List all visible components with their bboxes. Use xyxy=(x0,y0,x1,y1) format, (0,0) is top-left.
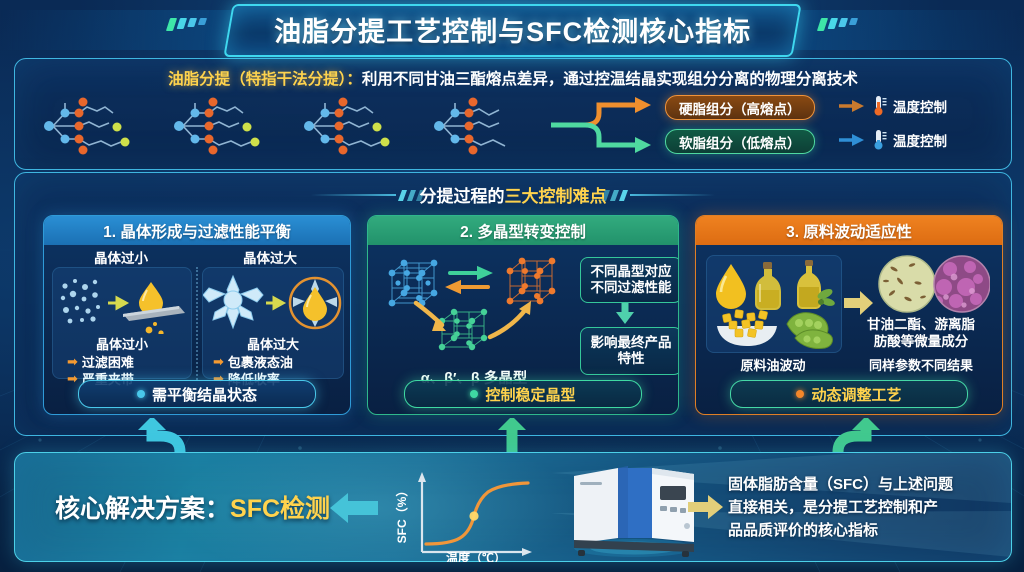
challenge-card-1[interactable]: 1. 晶体形成与过滤性能平衡 晶体过小 晶体过大 xyxy=(43,215,351,415)
definition-text: 利用不同甘油三酯熔点差异，通过控温结晶实现组分分离的物理分离技术 xyxy=(362,71,858,88)
microscope-samples-icon xyxy=(878,253,990,315)
conclusion-line-1: 固体脂肪含量（SFC）与上述问题 xyxy=(728,474,1000,497)
challenge-card-2[interactable]: 2. 多晶型转变控制 xyxy=(367,215,679,415)
title-deco-left-icon xyxy=(166,18,207,31)
beta-lattice-icon xyxy=(510,261,552,301)
section-title: 分提过程的三大控制难点 xyxy=(15,182,1011,207)
challenge-card-1-badge-label: 需平衡结晶状态 xyxy=(152,384,257,405)
solution-title-highlight: SFC检测 xyxy=(230,495,330,523)
bullet-dot-icon xyxy=(137,390,145,398)
definition-heading: 油脂分提（特指干法分提）：利用不同甘油三酯熔点差异，通过控温结晶实现组分分离的物… xyxy=(15,67,1011,89)
arrow-right-icon: ➡ xyxy=(67,355,78,368)
challenge-card-3-header: 3. 原料波动适应性 xyxy=(696,216,1002,245)
small-crystals-filter-icon xyxy=(53,272,191,334)
polymorph-lattice-diagram xyxy=(376,249,576,369)
arrow-down-icon xyxy=(614,303,636,325)
polymorph-chip-1-line2: 不同过滤性能 xyxy=(591,280,672,296)
conclusion-line-2: 直接相关，是分提工艺控制和产 xyxy=(728,497,1000,520)
challenge-card-3-badge-label: 动态调整工艺 xyxy=(811,384,901,405)
large-crystal-caption: 晶体过大 xyxy=(203,334,343,353)
hard-fraction-label: 硬脂组分（高熔点） xyxy=(679,98,801,118)
large-crystal-label: 晶体过大 xyxy=(196,247,344,267)
page-title-text: 油脂分提工艺控制与SFC检测核心指标 xyxy=(274,10,751,49)
title-deco-right-icon xyxy=(817,18,858,31)
y-axis-arrowhead xyxy=(418,472,426,482)
polymorph-chip-2-line1: 影响最终产品 xyxy=(591,335,672,351)
feedstock-panel xyxy=(706,255,842,353)
thermometer-cold-icon xyxy=(873,129,888,150)
challenges-panel: 分提过程的三大控制难点 1. 晶体形成与过滤性能平衡 晶体过小 晶体过大 xyxy=(14,172,1012,436)
arrow-right-icon: ➡ xyxy=(213,355,224,368)
edible-oils-feedstock-icon xyxy=(707,256,841,352)
challenge-card-2-body: α、β′、β 多晶型 不同晶型对应 不同过滤性能 影响最终产品 特性 xyxy=(368,245,678,414)
small-crystal-caption: 晶体过小 xyxy=(53,334,191,353)
minor-components-text: 甘油二酯、游离脂 肪酸等微量成分 xyxy=(848,317,994,351)
x-axis-arrowhead xyxy=(522,548,532,556)
sfc-curve-chart: SFC（%） 温度（℃） xyxy=(388,466,538,562)
challenge-card-1-body: 晶体过小 晶体过大 xyxy=(44,245,350,414)
triglyceride-molecule-icon xyxy=(169,97,279,155)
chart-xlabel: 温度（℃） xyxy=(446,550,506,562)
page-title: 油脂分提工艺控制与SFC检测核心指标 xyxy=(223,4,801,57)
minor-components-line2: 肪酸等微量成分 xyxy=(848,334,994,351)
polymorph-chip-2[interactable]: 影响最终产品 特性 xyxy=(580,327,679,375)
sfc-curve-marker xyxy=(469,511,478,520)
small-crystal-panel: 晶体过小 ➡过滤困难 ➡严重夹带 xyxy=(52,267,192,379)
section-title-highlight: 三大控制难点 xyxy=(505,187,607,206)
conclusion-line-3: 品品质评价的核心指标 xyxy=(728,520,1000,543)
challenge-card-2-badge-label: 控制稳定晶型 xyxy=(485,384,575,405)
challenge-card-2-badge[interactable]: 控制稳定晶型 xyxy=(404,380,642,408)
hard-fraction-pill[interactable]: 硬脂组分（高熔点） xyxy=(665,95,815,120)
result-variation-caption: 同样参数不同结果 xyxy=(846,355,996,374)
chart-ylabel: SFC（%） xyxy=(394,485,409,544)
minor-components-line1: 甘油二酯、游离脂 xyxy=(848,317,994,334)
card1-divider xyxy=(196,267,198,380)
arrow-right-icon xyxy=(839,99,865,113)
temperature-control-hot-label: 温度控制 xyxy=(893,96,947,116)
challenge-card-3[interactable]: 3. 原料波动适应性 xyxy=(695,215,1003,415)
challenge-card-1-badge[interactable]: 需平衡结晶状态 xyxy=(78,380,316,408)
triglyceride-molecule-icon xyxy=(299,97,409,155)
challenge-card-3-body: 原料油波动 xyxy=(696,245,1002,414)
large-crystal-panel: 晶体过大 ➡包裹液态油 ➡降低收率 xyxy=(202,267,344,379)
triglyceride-molecule-icon xyxy=(429,97,539,155)
challenge-card-3-badge[interactable]: 动态调整工艺 xyxy=(730,380,968,408)
solution-title-prefix: 核心解决方案： xyxy=(55,495,230,523)
page-title-area: 油脂分提工艺控制与SFC检测核心指标 xyxy=(0,4,1024,56)
arrow-left-icon xyxy=(330,492,378,524)
arrow-right-icon xyxy=(839,133,865,147)
infographic-canvas: 油脂分提工艺控制与SFC检测核心指标 油脂分提（特指干法分提）：利用不同甘油三酯… xyxy=(0,0,1024,572)
transform-arrows-icon xyxy=(416,269,531,337)
section-title-prefix: 分提过程的 xyxy=(420,187,505,206)
split-branch-icon xyxy=(551,93,671,157)
polymorph-chip-1[interactable]: 不同晶型对应 不同过滤性能 xyxy=(580,257,679,303)
triglyceride-molecule-icon xyxy=(39,97,149,155)
beta-prime-lattice-icon xyxy=(442,312,484,347)
solution-title: 核心解决方案：SFC检测 xyxy=(55,489,330,525)
temperature-control-cold-label: 温度控制 xyxy=(893,130,947,150)
temperature-control-hot: 温度控制 xyxy=(873,95,947,116)
challenge-card-1-header: 1. 晶体形成与过滤性能平衡 xyxy=(44,216,350,245)
conclusion-text: 固体脂肪含量（SFC）与上述问题 直接相关，是分提工艺控制和产 品品质评价的核心… xyxy=(728,474,1000,542)
small-crystal-label: 晶体过小 xyxy=(50,247,192,267)
arrow-right-icon xyxy=(688,494,724,520)
challenge-card-2-header: 2. 多晶型转变控制 xyxy=(368,216,678,245)
large-crystal-trapped-oil-icon xyxy=(203,272,343,334)
temperature-control-cold: 温度控制 xyxy=(873,129,947,150)
bullet-dot-icon xyxy=(796,390,804,398)
definition-term: 油脂分提（特指干法分提）： xyxy=(168,71,362,88)
molecule-row xyxy=(39,95,539,157)
arrow-right-icon: ➡ xyxy=(67,372,78,385)
thermometer-hot-icon xyxy=(873,95,888,116)
soft-fraction-label: 软脂组分（低熔点） xyxy=(679,132,801,152)
bullet-dot-icon xyxy=(470,390,478,398)
feedstock-caption: 原料油波动 xyxy=(706,355,840,374)
polymorph-chip-2-line2: 特性 xyxy=(591,351,672,367)
polymorph-chip-1-line1: 不同晶型对应 xyxy=(591,264,672,280)
definition-panel: 油脂分提（特指干法分提）：利用不同甘油三酯熔点差异，通过控温结晶实现组分分离的物… xyxy=(14,58,1012,170)
soft-fraction-pill[interactable]: 软脂组分（低熔点） xyxy=(665,129,815,154)
arrow-right-icon xyxy=(844,289,874,317)
